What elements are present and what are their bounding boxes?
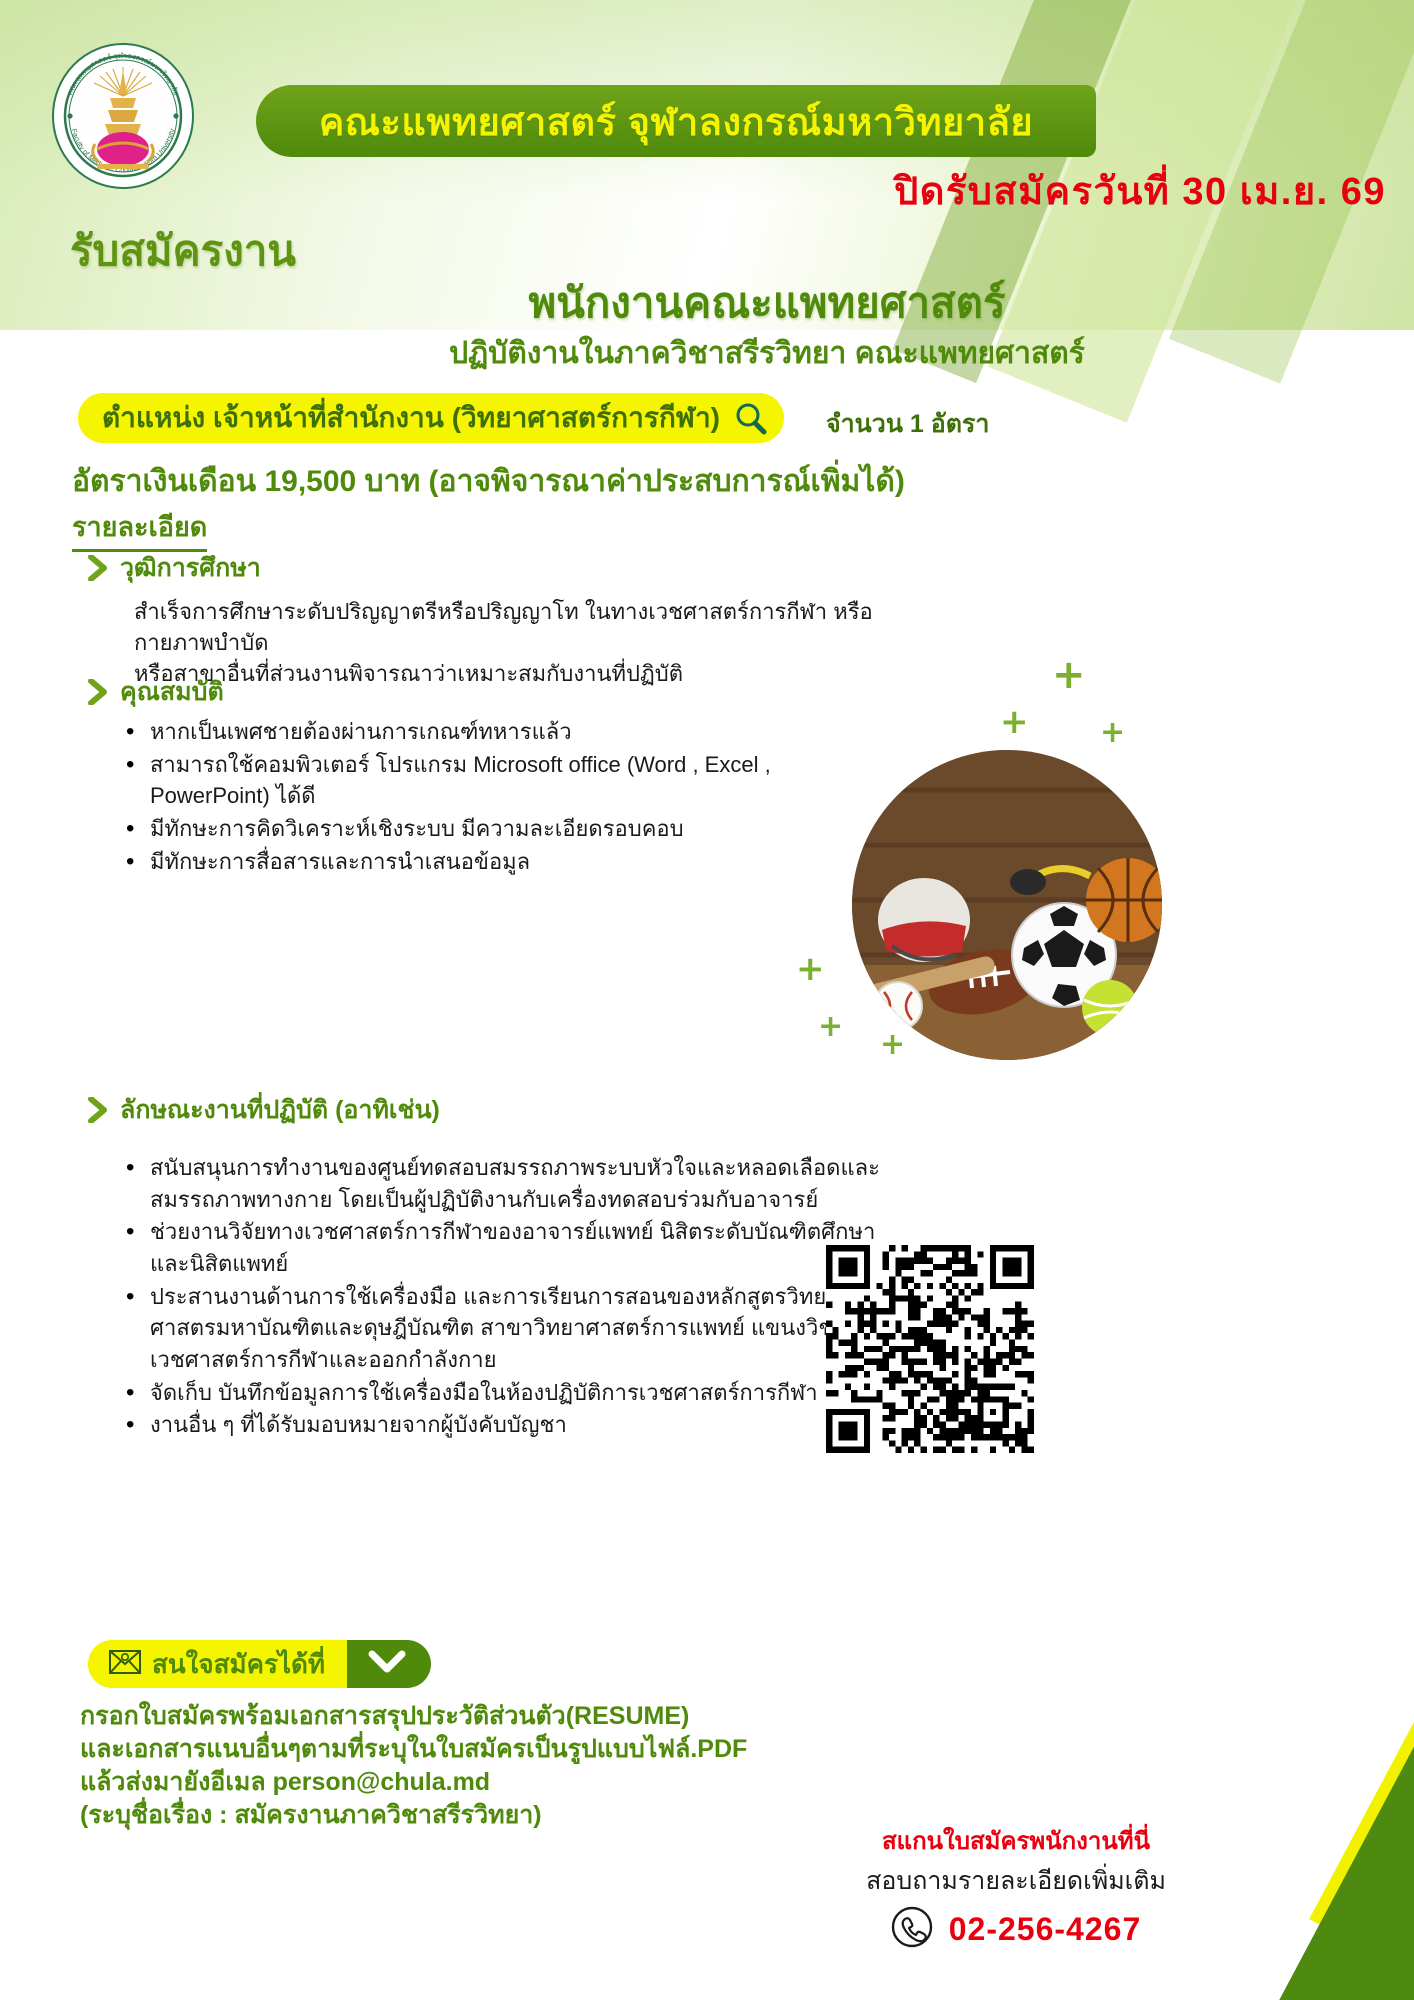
- section-qualifications: คุณสมบัติ หากเป็นเพศชายต้องผ่านการเกณฑ์ท…: [88, 672, 968, 878]
- faculty-name-band: คณะแพทยศาสตร์ จุฬาลงกรณ์มหาวิทยาลัย: [256, 85, 1096, 157]
- phone-number: 02-256-4267: [949, 1911, 1141, 1948]
- chevron-right-icon: [88, 679, 108, 705]
- section-heading: คุณสมบัติ: [88, 672, 968, 712]
- chevron-right-icon: [88, 555, 108, 581]
- sports-photo-frame: [842, 740, 1172, 1070]
- salary-line: อัตราเงินเดือน 19,500 บาท (อาจพิจารณาค่า…: [72, 458, 905, 505]
- list-item: มีทักษะการคิดวิเคราะห์เชิงระบบ มีความละเ…: [124, 813, 884, 845]
- job-title: พนักงานคณะแพทยศาสตร์: [0, 270, 1414, 336]
- section-heading-text: คุณสมบัติ: [120, 672, 224, 712]
- duties-list: สนับสนุนการทำงานของศูนย์ทดสอบสมรรถภาพระบ…: [124, 1152, 884, 1441]
- details-heading: รายละเอียด: [72, 505, 207, 552]
- plus-decor-4: +: [796, 952, 825, 986]
- apply-line-2: และเอกสารแนบอื่นๆตามที่ระบุในใบสมัครเป็น…: [80, 1733, 747, 1766]
- plus-decor-6: +: [880, 1030, 905, 1060]
- list-item: จัดเก็บ บันทึกข้อมูลการใช้เครื่องมือในห้…: [124, 1377, 884, 1409]
- phone-icon: [891, 1906, 933, 1953]
- position-pill: ตำแหน่ง เจ้าหน้าที่สำนักงาน (วิทยาศาสตร์…: [78, 393, 784, 443]
- apply-label: สนใจสมัครได้ที่: [152, 1644, 325, 1685]
- section-heading-text: ลักษณะงานที่ปฏิบัติ (อาทิเช่น): [120, 1090, 440, 1130]
- apply-instructions: กรอกใบสมัครพร้อมเอกสารสรุปประวัติส่วนตัว…: [80, 1700, 747, 1832]
- apply-line-3: แล้วส่งมายังอีเมล person@chula.md: [80, 1766, 747, 1799]
- list-item: หากเป็นเพศชายต้องผ่านการเกณฑ์ทหารแล้ว: [124, 716, 884, 748]
- list-item: สนับสนุนการทำงานของศูนย์ทดสอบสมรรถภาพระบ…: [124, 1152, 884, 1215]
- chevron-right-icon: [88, 1097, 108, 1123]
- list-item: มีทักษะการสื่อสารและการนำเสนอข้อมูล: [124, 846, 884, 878]
- section-heading: ลักษณะงานที่ปฏิบัติ (อาทิเช่น): [88, 1090, 988, 1130]
- position-label: ตำแหน่ง เจ้าหน้าที่สำนักงาน (วิทยาศาสตร์…: [102, 396, 720, 440]
- job-department: ปฏิบัติงานในภาควิชาสรีรวิทยา คณะแพทยศาสต…: [0, 330, 1414, 377]
- job-posting-poster: + + + + + + คณะแพทยศาสตร์ จุฬาลงกรณ์มหาว…: [0, 0, 1414, 2000]
- plus-decor-2: +: [1000, 705, 1029, 739]
- list-item: ประสานงานด้านการใช้เครื่องมือ และการเรีย…: [124, 1281, 884, 1376]
- envelope-icon: [108, 1648, 142, 1681]
- ribbon-green: [1250, 1039, 1414, 2000]
- qr-code[interactable]: [826, 1245, 1034, 1453]
- section-education: วุฒิการศึกษา สำเร็จการศึกษาระดับปริญญาตร…: [88, 548, 988, 690]
- application-deadline: ปิดรับสมัครวันที่ 30 เม.ย. 69: [894, 160, 1386, 221]
- apply-line-4: (ระบุชื่อเรื่อง : สมัครงานภาควิชาสรีรวิท…: [80, 1799, 747, 1832]
- qualifications-list: หากเป็นเพศชายต้องผ่านการเกณฑ์ทหารแล้ว สา…: [124, 716, 884, 877]
- sports-equipment-photo: [852, 750, 1162, 1060]
- contact-prompt: สอบถามรายละเอียดเพิ่มเติม: [766, 1861, 1266, 1901]
- apply-line-1: กรอกใบสมัครพร้อมเอกสารสรุปประวัติส่วนตัว…: [80, 1700, 747, 1733]
- section-heading-text: วุฒิการศึกษา: [120, 548, 261, 588]
- plus-decor-3: +: [1100, 718, 1125, 748]
- list-item: สามารถใช้คอมพิวเตอร์ โปรแกรม Microsoft o…: [124, 749, 884, 812]
- apply-pill-yellow: สนใจสมัครได้ที่: [88, 1640, 347, 1688]
- list-item: ช่วยงานวิจัยทางเวชศาสตร์การกีฬาของอาจารย…: [124, 1216, 884, 1279]
- plus-decor-1: +: [1052, 655, 1086, 695]
- phone-row: 02-256-4267: [766, 1906, 1266, 1953]
- qr-scan-label: สแกนใบสมัครพนักงานที่นี่: [766, 1821, 1266, 1860]
- magnifier-icon: [732, 400, 768, 436]
- chevron-down-icon: [367, 1649, 407, 1680]
- list-item: งานอื่น ๆ ที่ได้รับมอบหมายจากผู้บังคับบั…: [124, 1409, 884, 1441]
- plus-decor-5: +: [818, 1012, 843, 1042]
- position-count: จำนวน 1 อัตรา: [826, 404, 989, 444]
- faculty-name-text: คณะแพทยศาสตร์ จุฬาลงกรณ์มหาวิทยาลัย: [319, 91, 1033, 152]
- apply-pill: สนใจสมัครได้ที่: [88, 1640, 431, 1688]
- section-heading: วุฒิการศึกษา: [88, 548, 988, 588]
- education-line-1: สำเร็จการศึกษาระดับปริญญาตรีหรือปริญญาโท…: [134, 596, 988, 658]
- university-seal-logo: คณะแพทยศาสตร์ จุฬาลงกรณ์มหาวิทยาลัย Facu…: [48, 36, 198, 191]
